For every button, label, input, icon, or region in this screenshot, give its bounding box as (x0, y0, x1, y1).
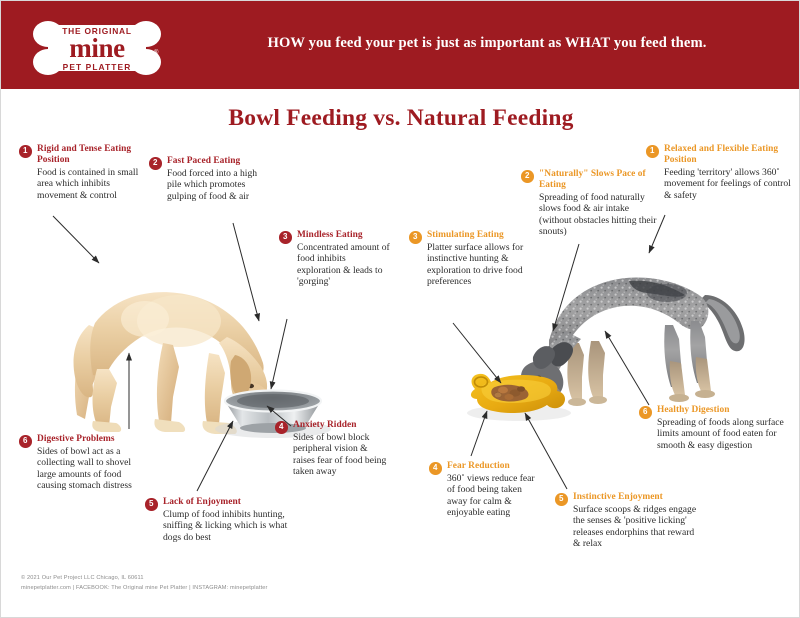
callout-number-badge: 3 (409, 231, 422, 244)
callout-number-badge: 4 (429, 462, 442, 475)
callout-description: Spreading of foods along surface limits … (657, 417, 791, 452)
page-title: Bowl Feeding vs. Natural Feeding (1, 105, 800, 132)
callout-title: Lack of Enjoyment (163, 497, 289, 508)
callout-bowl-6: 6 Digestive Problems Sides of bowl act a… (19, 434, 145, 492)
social-links-line: minepetplatter.com | FACEBOOK: The Origi… (21, 584, 268, 594)
callout-number-badge: 6 (19, 435, 32, 448)
callout-bowl-2: 2 Fast Paced Eating Food forced into a h… (149, 156, 265, 202)
callout-number-badge: 2 (149, 157, 162, 170)
callout-title: "Naturally" Slows Pace of Eating (539, 169, 661, 191)
footer: © 2021 Our Pet Project LLC Chicago, IL 6… (21, 574, 268, 593)
callout-description: Concentrated amount of food inhibits exp… (297, 242, 391, 288)
callout-title: Healthy Digestion (657, 405, 791, 416)
logo-bottom-text: PET PLATTER (32, 62, 162, 72)
mine-pet-platter-logo: THE ORIGINAL mine PET PLATTER ® (32, 18, 162, 78)
callout-title: Instinctive Enjoyment (573, 492, 701, 503)
infographic-page: THE ORIGINAL mine PET PLATTER ® HOW you … (0, 0, 800, 618)
callout-natural-3: 3 Stimulating Eating Platter surface all… (409, 230, 533, 288)
callout-title: Fear Reduction (447, 461, 539, 472)
callout-title: Digestive Problems (37, 434, 145, 445)
callout-bowl-3: 3 Mindless Eating Concentrated amount of… (279, 230, 391, 288)
callout-number-badge: 2 (521, 170, 534, 183)
callout-number-badge: 1 (19, 145, 32, 158)
header-tagline: HOW you feed your pet is just as importa… (187, 35, 787, 52)
callout-description: Sides of bowl block peripheral vision & … (293, 432, 387, 478)
callout-bowl-4: 4 Anxiety Ridden Sides of bowl block per… (275, 420, 387, 478)
callout-description: Food forced into a high pile which promo… (167, 168, 265, 203)
callout-bowl-1: 1 Rigid and Tense Eating Position Food i… (19, 144, 139, 201)
callout-description: Surface scoops & ridges engage the sense… (573, 504, 701, 550)
callout-description: Clump of food inhibits hunting, sniffing… (163, 509, 289, 544)
callout-number-badge: 5 (145, 498, 158, 511)
callout-natural-6: 6 Healthy Digestion Spreading of foods a… (639, 405, 791, 451)
callout-description: 360˚ views reduce fear of food being tak… (447, 473, 539, 519)
registered-trademark-mark: ® (154, 50, 158, 56)
logo-brand-text: mine (32, 33, 162, 63)
logo-text-group: THE ORIGINAL mine PET PLATTER (32, 18, 162, 78)
callout-description: Feeding 'territory' allows 360˚ movement… (664, 167, 792, 202)
callout-title: Stimulating Eating (427, 230, 533, 241)
callout-description: Sides of bowl act as a collecting wall t… (37, 446, 145, 492)
callout-title: Mindless Eating (297, 230, 391, 241)
callout-natural-5: 5 Instinctive Enjoyment Surface scoops &… (555, 492, 701, 550)
callout-number-badge: 6 (639, 406, 652, 419)
callout-description: Spreading of food naturally slows food &… (539, 192, 661, 238)
callout-number-badge: 3 (279, 231, 292, 244)
callout-number-badge: 5 (555, 493, 568, 506)
callout-title: Anxiety Ridden (293, 420, 387, 431)
callout-natural-1: 1 Relaxed and Flexible Eating Position F… (646, 144, 792, 201)
callout-natural-4: 4 Fear Reduction 360˚ views reduce fear … (429, 461, 539, 519)
callout-number-badge: 4 (275, 421, 288, 434)
callout-title: Fast Paced Eating (167, 156, 265, 167)
callout-title: Relaxed and Flexible Eating Position (664, 144, 792, 166)
copyright-line: © 2021 Our Pet Project LLC Chicago, IL 6… (21, 574, 268, 584)
callout-description: Platter surface allows for instinctive h… (427, 242, 533, 288)
callout-number-badge: 1 (646, 145, 659, 158)
callout-bowl-5: 5 Lack of Enjoyment Clump of food inhibi… (145, 497, 289, 543)
callout-title: Rigid and Tense Eating Position (37, 144, 139, 166)
callout-description: Food is contained in small area which in… (37, 167, 139, 202)
callout-natural-2: 2 "Naturally" Slows Pace of Eating Sprea… (521, 169, 661, 238)
